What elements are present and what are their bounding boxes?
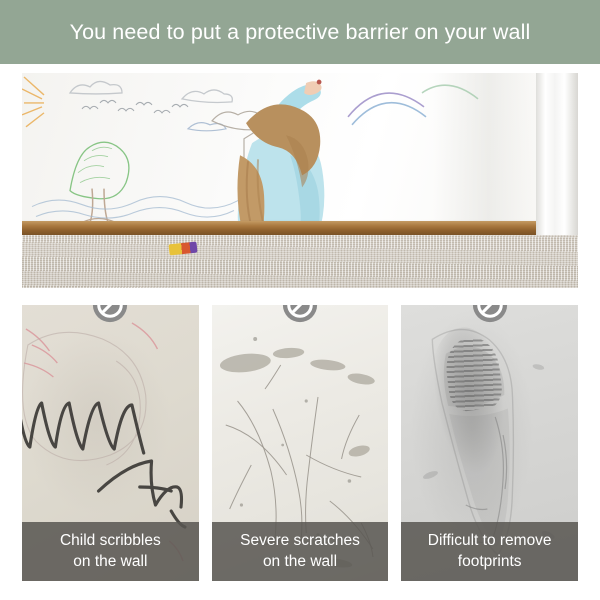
- hero-photo: [22, 73, 578, 288]
- panel-caption-bar: Difficult to remove footprints: [401, 522, 578, 581]
- panel-caption-text: Difficult to remove footprints: [422, 531, 558, 572]
- prohibition-icon: [282, 305, 318, 323]
- page-title: You need to put a protective barrier on …: [70, 20, 531, 45]
- panel-caption-text: Severe scratches on the wall: [234, 531, 366, 572]
- problem-panel-scratches[interactable]: Severe scratches on the wall: [212, 305, 389, 581]
- problem-panel-footprints[interactable]: Difficult to remove footprints: [401, 305, 578, 581]
- promo-page: You need to put a protective barrier on …: [0, 0, 600, 600]
- problem-panel-scribbles[interactable]: Child scribbles on the wall: [22, 305, 199, 581]
- prohibition-icon: [92, 305, 128, 323]
- panel-caption-bar: Child scribbles on the wall: [22, 522, 199, 581]
- prohibition-icon: [472, 305, 508, 323]
- hero-carpet: [22, 235, 578, 288]
- hero-curtain: [536, 73, 578, 235]
- panel-caption-bar: Severe scratches on the wall: [212, 522, 389, 581]
- header-banner: You need to put a protective barrier on …: [0, 0, 600, 64]
- panel-caption-text: Child scribbles on the wall: [54, 531, 167, 572]
- problem-panel-row: Child scribbles on the wall: [22, 305, 578, 581]
- hero-baseboard: [22, 221, 578, 235]
